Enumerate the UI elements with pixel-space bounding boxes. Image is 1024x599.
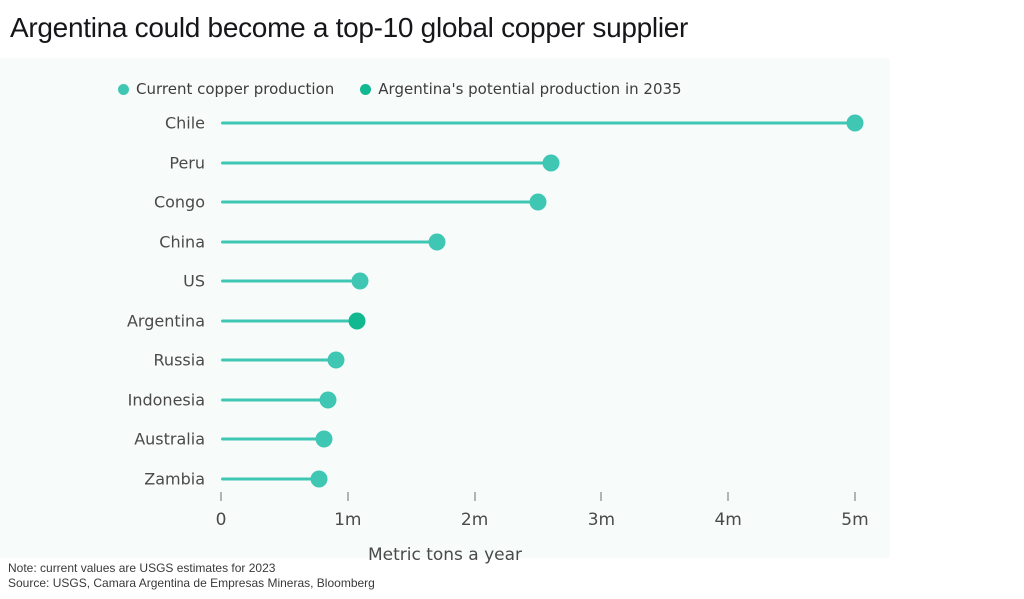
lollipop-dot[interactable] xyxy=(352,273,369,290)
lollipop-dot[interactable] xyxy=(348,312,365,329)
x-axis-tick-mark xyxy=(221,492,222,501)
category-label: Chile xyxy=(165,114,205,133)
category-label: Argentina xyxy=(127,311,205,330)
lollipop-dot[interactable] xyxy=(328,352,345,369)
category-label: Peru xyxy=(169,153,205,172)
x-axis-tick-label: 0 xyxy=(216,510,227,530)
lollipop-dot[interactable] xyxy=(847,115,864,132)
lollipop-stem xyxy=(221,280,360,283)
lollipop-stem xyxy=(221,240,437,243)
category-label: Russia xyxy=(154,351,205,370)
x-axis-tick-label: 1m xyxy=(334,510,361,530)
category-label: US xyxy=(183,272,205,291)
category-label: Indonesia xyxy=(128,390,205,409)
lollipop-stem xyxy=(221,161,551,164)
lollipop-dot[interactable] xyxy=(319,391,336,408)
lollipop-stem xyxy=(221,398,328,401)
category-label: China xyxy=(159,232,205,251)
footnote-source: Source: USGS, Camara Argentina de Empres… xyxy=(8,576,375,591)
footnotes: Note: current values are USGS estimates … xyxy=(8,561,375,591)
footnote-note: Note: current values are USGS estimates … xyxy=(8,561,375,576)
lollipop-dot[interactable] xyxy=(428,233,445,250)
lollipop-dot[interactable] xyxy=(530,194,547,211)
lollipop-stem xyxy=(221,201,538,204)
category-label: Zambia xyxy=(144,469,205,488)
lollipop-dot[interactable] xyxy=(310,470,327,487)
x-axis-tick-label: 2m xyxy=(461,510,488,530)
x-axis-tick-mark xyxy=(474,492,475,501)
x-axis-tick-label: 4m xyxy=(714,510,741,530)
lollipop-stem xyxy=(221,319,357,322)
x-axis-tick-label: 3m xyxy=(588,510,615,530)
lollipop-stem xyxy=(221,477,319,480)
x-axis-tick-mark xyxy=(347,492,348,501)
x-axis-tick-label: 5m xyxy=(841,510,868,530)
lollipop-stem xyxy=(221,122,855,125)
category-label: Australia xyxy=(134,430,205,449)
lollipop-dot[interactable] xyxy=(315,431,332,448)
x-axis-tick-mark xyxy=(855,492,856,501)
lollipop-dot[interactable] xyxy=(542,154,559,171)
lollipop-stem xyxy=(221,359,336,362)
x-axis-tick-mark xyxy=(728,492,729,501)
chart-panel: Current copper productionArgentina's pot… xyxy=(0,58,890,558)
page-title: Argentina could become a top-10 global c… xyxy=(10,12,1010,44)
lollipop-stem xyxy=(221,438,324,441)
x-axis-tick-mark xyxy=(601,492,602,501)
plot-area: ChilePeruCongoChinaUSArgentinaRussiaIndo… xyxy=(0,58,890,558)
category-label: Congo xyxy=(154,193,205,212)
